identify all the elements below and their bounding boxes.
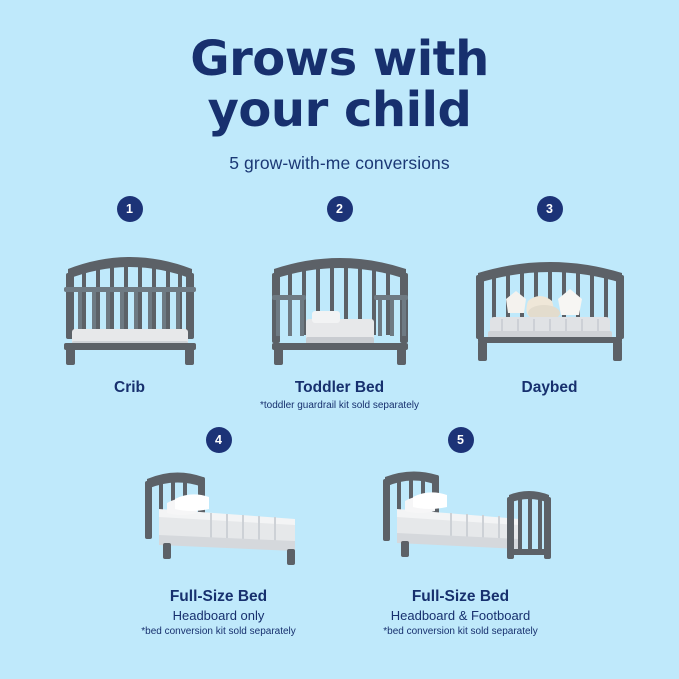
title-line-1: Grows with bbox=[190, 31, 489, 87]
page-title: Grows with your child bbox=[0, 34, 679, 137]
product-row-top: 1 bbox=[0, 196, 679, 413]
product-item-toddler-bed: 2 bbox=[242, 196, 438, 411]
product-label: Full-Size Bed bbox=[170, 587, 267, 606]
step-badge: 5 bbox=[448, 427, 474, 453]
step-badge: 1 bbox=[117, 196, 143, 222]
product-row-bottom: 4 bbox=[0, 427, 679, 637]
page-subtitle: 5 grow-with-me conversions bbox=[0, 153, 679, 174]
product-item-full-size-bed-headboard-footboard: 5 bbox=[355, 427, 567, 637]
product-note: *toddler guardrail kit sold separately bbox=[260, 400, 419, 411]
product-label: Crib bbox=[114, 378, 145, 397]
full-size-bed-headboard-illustration bbox=[119, 459, 319, 577]
crib-illustration bbox=[42, 228, 218, 368]
daybed-illustration bbox=[462, 228, 638, 368]
step-badge: 3 bbox=[537, 196, 563, 222]
toddler-bed-illustration bbox=[252, 228, 428, 368]
full-size-bed-headboard-footboard-illustration bbox=[361, 459, 561, 577]
product-note: *bed conversion kit sold separately bbox=[383, 626, 538, 637]
infographic-page: Grows with your child 5 grow-with-me con… bbox=[0, 0, 679, 679]
product-sublabel: Headboard & Footboard bbox=[391, 608, 530, 623]
step-badge: 2 bbox=[327, 196, 353, 222]
step-badge: 4 bbox=[206, 427, 232, 453]
product-item-daybed: 3 bbox=[452, 196, 648, 413]
product-item-crib: 1 bbox=[32, 196, 228, 413]
product-label: Daybed bbox=[522, 378, 578, 397]
product-note: *bed conversion kit sold separately bbox=[141, 626, 296, 637]
product-sublabel: Headboard only bbox=[173, 608, 265, 623]
product-label: Full-Size Bed bbox=[412, 587, 509, 606]
product-label: Toddler Bed bbox=[295, 378, 384, 397]
title-line-2: your child bbox=[0, 85, 679, 136]
product-item-full-size-bed-headboard: 4 bbox=[113, 427, 325, 637]
header: Grows with your child 5 grow-with-me con… bbox=[0, 0, 679, 174]
